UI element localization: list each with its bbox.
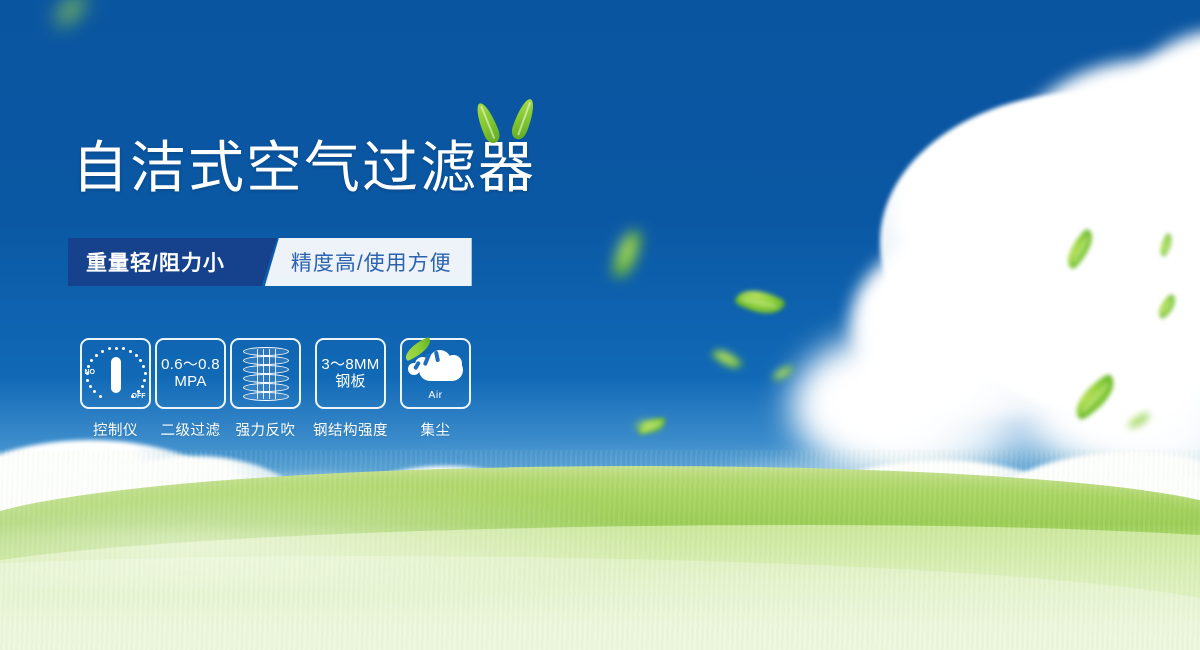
feature-item-steel[interactable]: 3〜8MM 钢板 钢结构强度 [303,338,398,440]
pressure-icon: 0.6〜0.8 MPA [161,357,220,391]
feature-item-dust[interactable]: Air 集尘 [398,338,473,440]
gauge-icon: NO OFF [85,345,147,403]
cloud-puff [790,330,1030,480]
cloud-puff [1090,140,1200,350]
feature-label: 控制仪 [78,419,153,440]
feature-icon-box: NO OFF [80,338,151,409]
ribbon-right-text: 精度高/使用方便 [265,238,472,286]
floating-leaf [1068,373,1123,421]
leaf-icon [473,101,503,146]
floating-leaf [637,417,667,435]
floating-leaf [771,365,795,381]
subtitle-ribbon: 重量轻/阻力小 精度高/使用方便 [68,238,472,286]
page-title: 自洁式空气过滤器 [72,138,536,197]
floating-leaf [1154,294,1181,320]
product-banner: 自洁式空气过滤器 重量轻/阻力小 精度高/使用方便 [0,0,1200,650]
feature-label: 集尘 [398,419,473,440]
floating-leaf [734,281,786,323]
cloud-puff [880,92,1200,392]
floating-leaf [1127,413,1151,428]
feature-icon-box: Air [400,338,471,409]
feature-icon-box: 3〜8MM 钢板 [315,338,386,409]
cloud-puff [1130,30,1200,180]
leaf-icon [509,97,537,142]
floating-leaf [613,229,641,280]
feature-list: NO OFF 控制仪 0.6〜0.8 MPA 二级过滤 [78,338,473,440]
gauge-needle [111,357,121,393]
ribbon-left-text: 重量轻/阻力小 [68,238,251,286]
feature-label: 强力反吹 [228,419,303,440]
feature-icon-box: 0.6〜0.8 MPA [155,338,226,409]
title-block: 自洁式空气过滤器 [72,138,536,197]
floating-leaf [711,344,743,374]
floating-leaf [1156,233,1176,257]
feature-item-controller[interactable]: NO OFF 控制仪 [78,338,153,440]
filter-coil-icon [243,347,289,401]
feature-item-backblow[interactable]: 强力反吹 [228,338,303,440]
cloud-puff [940,180,1200,410]
feature-icon-box [230,338,301,409]
gauge-off-label: OFF [132,393,146,400]
floating-leaf [51,0,91,27]
feature-item-pressure[interactable]: 0.6〜0.8 MPA 二级过滤 [153,338,228,440]
air-cloud-icon: Air [407,349,465,399]
title-leaf-pair [476,98,546,150]
cloud-puff [1000,60,1200,310]
feature-label: 钢结构强度 [303,419,398,440]
floating-leaf [1060,228,1100,270]
feature-label: 二级过滤 [153,419,228,440]
gauge-no-label: NO [85,369,96,376]
steel-plate-icon: 3〜8MM 钢板 [321,357,379,391]
air-label: Air [407,389,465,401]
